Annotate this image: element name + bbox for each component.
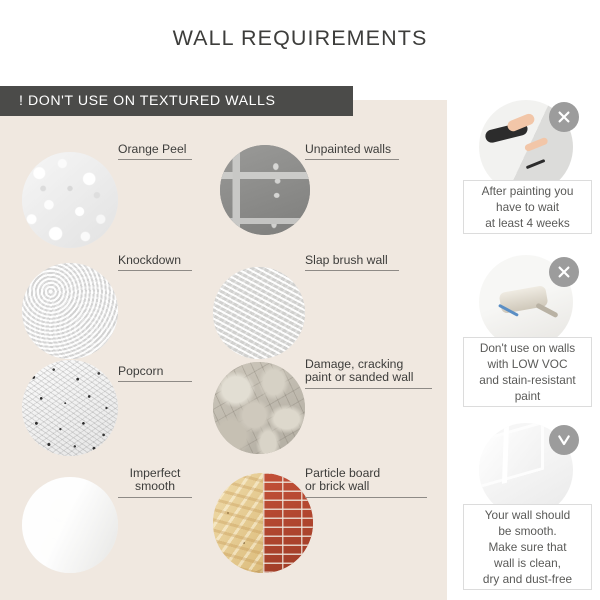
tip-text: Don't use on walls with LOW VOC and stai… bbox=[479, 340, 575, 404]
swatch-label: Knockdown bbox=[118, 254, 192, 271]
orange-peel-texture bbox=[22, 152, 118, 248]
tip-text: After painting you have to wait at least… bbox=[482, 183, 574, 231]
warning-banner-label: ! DON'T USE ON TEXTURED WALLS bbox=[0, 93, 275, 109]
infographic-page: WALL REQUIREMENTS ! DON'T USE ON TEXTURE… bbox=[0, 0, 600, 600]
cross-icon bbox=[549, 257, 579, 287]
page-title: WALL REQUIREMENTS bbox=[0, 26, 600, 51]
tip-text: Your wall should be smooth. Make sure th… bbox=[483, 507, 572, 587]
popcorn-texture bbox=[22, 360, 118, 456]
swatch-label: Orange Peel bbox=[118, 143, 192, 160]
knockdown-texture bbox=[22, 263, 118, 359]
particle-board-brick-texture bbox=[213, 473, 313, 573]
swatch-label: Slap brush wall bbox=[305, 254, 399, 271]
unpainted-wall-photo bbox=[220, 145, 310, 235]
tip-text-box: Your wall should be smooth. Make sure th… bbox=[463, 504, 592, 590]
swatch-label: Imperfect smooth bbox=[118, 467, 192, 498]
tip-text-box: Don't use on walls with LOW VOC and stai… bbox=[463, 337, 592, 407]
swatch-label: Damage, cracking paint or sanded wall bbox=[305, 358, 432, 389]
slap-brush-texture bbox=[213, 267, 305, 359]
cross-icon bbox=[549, 102, 579, 132]
swatch-label: Unpainted walls bbox=[305, 143, 399, 160]
check-icon bbox=[549, 425, 579, 455]
tip-text-box: After painting you have to wait at least… bbox=[463, 180, 592, 234]
swatch-label: Popcorn bbox=[118, 365, 192, 382]
imperfect-smooth-texture bbox=[22, 477, 118, 573]
damaged-wall-texture bbox=[213, 362, 305, 454]
warning-banner: ! DON'T USE ON TEXTURED WALLS bbox=[0, 86, 353, 116]
swatch-label: Particle board or brick wall bbox=[305, 467, 427, 498]
